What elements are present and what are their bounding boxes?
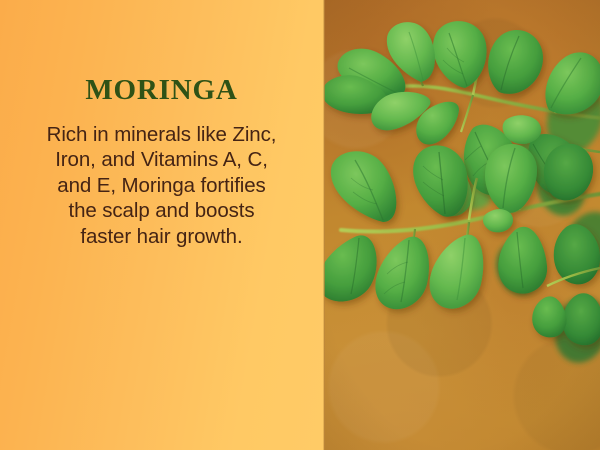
leaf: [433, 21, 487, 88]
page-title: MORINGA: [22, 76, 301, 105]
leaf: [488, 30, 543, 94]
leaf: [532, 296, 566, 337]
text-panel: MORINGA Rich in minerals like Zinc, Iron…: [0, 0, 323, 450]
moringa-leaves-illustration: [323, 0, 600, 450]
leaf: [323, 235, 377, 301]
leaf: [413, 145, 468, 216]
leaf: [331, 151, 396, 222]
leaf: [483, 209, 513, 232]
leaf: [375, 237, 429, 310]
leaf-branch-lower: [323, 144, 600, 309]
leaf: [430, 235, 484, 309]
leaf: [485, 144, 537, 213]
text-panel-inner: MORINGA Rich in minerals like Zinc, Iron…: [0, 76, 323, 249]
leaf: [498, 227, 547, 294]
leaf: [544, 144, 593, 201]
description-text: Rich in minerals like Zinc, Iron, and Vi…: [46, 122, 278, 249]
leaf: [563, 293, 600, 345]
photo-panel: [323, 0, 600, 450]
moringa-info-card: MORINGA Rich in minerals like Zinc, Iron…: [0, 0, 600, 450]
